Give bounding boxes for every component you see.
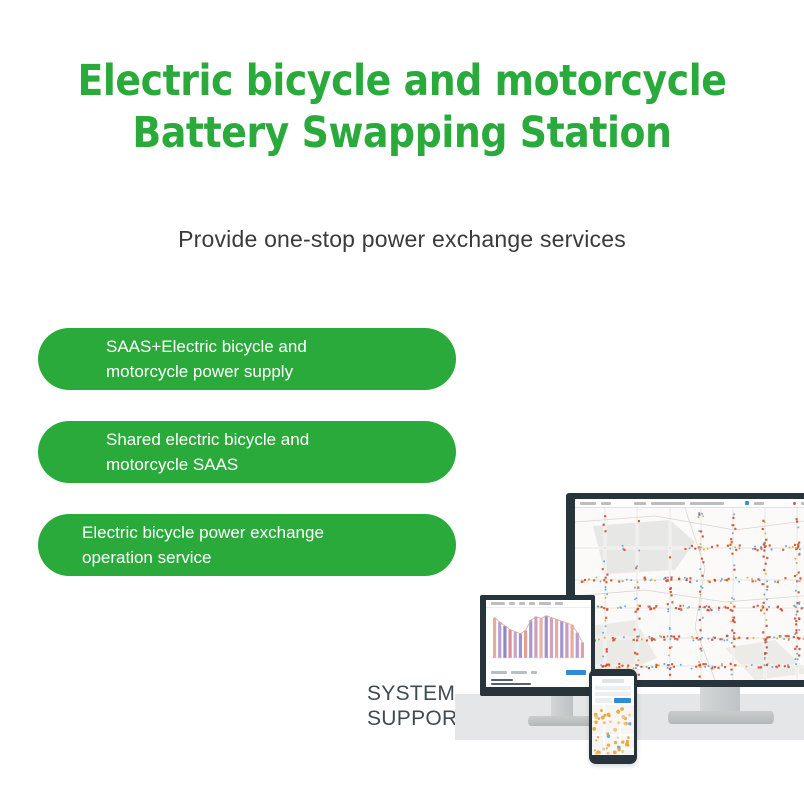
map-toolbar <box>575 499 804 508</box>
page-title-line-1: Electric bicycle and motorcycle <box>48 55 756 107</box>
secondary-monitor-base <box>528 716 598 726</box>
page-title-line-2: Battery Swapping Station <box>48 107 756 159</box>
feature-pill-2-line-1: Shared electric bicycle and <box>106 427 456 452</box>
system-support-line-2: SUPPORT <box>367 706 470 731</box>
report-tab-1 <box>509 602 515 605</box>
report-tab-4 <box>539 602 551 605</box>
report-filter-2 <box>511 671 527 674</box>
mobile-reset-button[interactable] <box>595 698 612 703</box>
report-note-heading <box>491 679 513 681</box>
report-filter-3 <box>531 671 537 674</box>
system-support-line-1: SYSTEM <box>367 681 470 706</box>
feature-pill-2[interactable]: Shared electric bicycle and motorcycle S… <box>38 421 456 483</box>
desk-surface <box>455 694 804 740</box>
secondary-monitor-screen <box>486 600 591 687</box>
legend-label-blue <box>754 502 764 505</box>
feature-pill-1-line-2: motorcycle power supply <box>106 359 456 384</box>
page-title: Electric bicycle and motorcycle Battery … <box>48 55 756 159</box>
system-support-caption: SYSTEM SUPPORT <box>367 681 470 731</box>
toolbar-menu <box>601 502 611 505</box>
map-graphic <box>575 508 804 680</box>
feature-pill-1-line-1: SAAS+Electric bicycle and <box>106 334 456 359</box>
report-tab-2 <box>519 602 525 605</box>
feature-pill-3-line-2: operation service <box>82 545 456 570</box>
feature-list: SAAS+Electric bicycle and motorcycle pow… <box>38 328 456 607</box>
promo-banner: Electric bicycle and motorcycle Battery … <box>0 0 804 804</box>
report-title-chip <box>491 602 505 605</box>
bar-chart <box>486 608 591 668</box>
feature-pill-3-line-1: Electric bicycle power exchange <box>82 520 456 545</box>
report-footer-controls <box>486 668 591 677</box>
map-canvas[interactable] <box>575 508 804 680</box>
desktop-monitor-neck <box>700 687 740 713</box>
desktop-monitor-screen <box>575 499 804 680</box>
desktop-monitor-base <box>668 711 774 724</box>
mobile-search-button[interactable] <box>614 698 631 703</box>
mobile-map-graphic <box>592 705 634 755</box>
toolbar-date-to <box>690 502 724 505</box>
page-subtitle: Provide one-stop power exchange services <box>0 226 804 253</box>
toolbar-filter-label <box>634 502 646 505</box>
mobile-form-buttons <box>595 698 631 703</box>
feature-pill-3[interactable]: Electric bicycle power exchange operatio… <box>38 514 456 576</box>
feature-pill-1[interactable]: SAAS+Electric bicycle and motorcycle pow… <box>38 328 456 390</box>
feature-pill-2-line-2: motorcycle SAAS <box>106 452 456 477</box>
report-notes <box>486 679 591 687</box>
legend-swatch-red <box>793 502 796 505</box>
report-tab-5 <box>555 602 563 605</box>
mobile-search-form <box>592 676 634 705</box>
secondary-monitor <box>480 595 595 696</box>
mobile-field-2[interactable] <box>595 692 631 696</box>
legend-swatch-blue <box>745 501 749 505</box>
secondary-monitor-neck <box>551 696 573 718</box>
bar-chart-graphic <box>486 608 591 663</box>
toolbar-date-from <box>651 502 685 505</box>
toolbar-logo <box>580 502 596 505</box>
mobile-map-canvas[interactable] <box>592 705 634 755</box>
report-tab-3 <box>529 602 535 605</box>
report-toolbar <box>486 600 591 608</box>
report-submit-button[interactable] <box>566 670 586 675</box>
mobile-field-1[interactable] <box>595 686 631 690</box>
report-filter-1 <box>491 671 507 674</box>
smartphone <box>589 669 637 764</box>
smartphone-screen <box>592 676 634 755</box>
desktop-monitor <box>566 493 804 687</box>
mobile-app-title <box>602 679 624 683</box>
report-note-line-1 <box>491 683 531 685</box>
